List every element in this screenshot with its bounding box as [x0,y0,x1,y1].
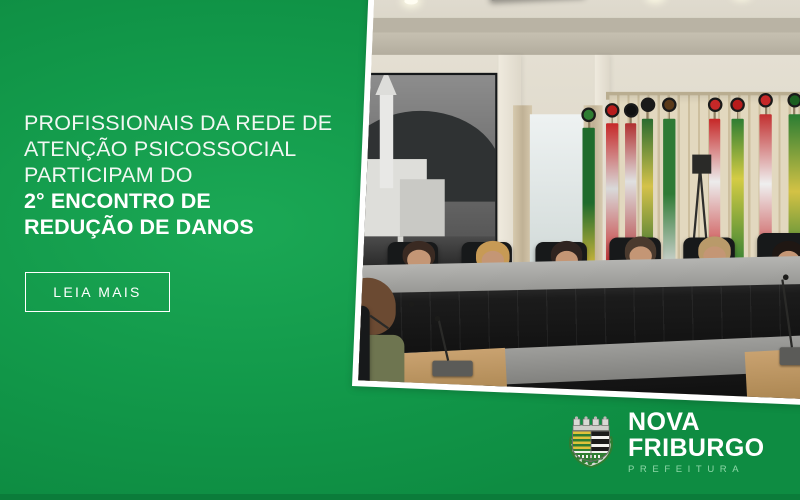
flag-finial [623,103,638,118]
logo-line-2: FRIBURGO [628,436,765,461]
event-photo-frame [352,0,800,408]
headline-line-2: ATENÇÃO PSICOSSOCIAL [24,136,354,162]
event-photo [358,0,800,402]
logo-wordmark: NOVA FRIBURGO PREFEITURA [628,408,765,475]
news-banner: PROFISSIONAIS DA REDE DE ATENÇÃO PSICOSS… [0,0,800,500]
bottom-accent-strip [0,494,800,500]
microphone-base [780,347,800,365]
nova-friburgo-coat-of-arms-icon [564,412,618,470]
ceiling-beam [358,18,800,33]
logo-subtitle: PREFEITURA [628,465,765,475]
logo-line-1: NOVA [628,410,765,435]
event-photo-scene [358,0,800,402]
microphone-base [433,361,473,377]
wall-photo-church-annex [400,180,444,240]
headline-line-1: PROFISSIONAIS DA REDE DE [24,110,354,136]
prefeitura-logo[interactable]: NOVA FRIBURGO PREFEITURA [564,408,765,475]
headline: PROFISSIONAIS DA REDE DE ATENÇÃO PSICOSS… [24,110,354,240]
microphone-head [408,301,414,307]
flag-finial [787,93,800,108]
read-more-button[interactable]: LEIA MAIS [25,272,170,312]
headline-line-3: PARTICIPAM DO [24,162,354,188]
headline-line-4: 2° ENCONTRO DE [24,188,354,214]
ceiling-light [404,0,417,4]
flag-finial [582,107,597,122]
headline-line-5: REDUÇÃO DE DANOS [24,214,354,240]
camera-head [692,155,711,173]
microphone-head [435,316,441,322]
ceiling-soffit [358,33,800,56]
wall-photo-church-tower [379,91,392,187]
read-more-button-label: LEIA MAIS [53,284,141,300]
flag-finial [605,103,620,118]
